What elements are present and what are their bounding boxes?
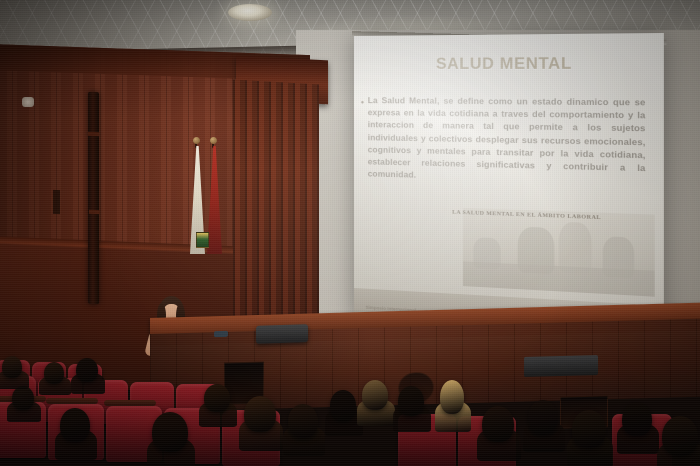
audience-member	[482, 406, 514, 442]
audience-member	[44, 362, 64, 384]
audience-member	[2, 356, 22, 378]
audience-member	[244, 396, 276, 432]
audience-member	[12, 386, 34, 410]
projection-screen: SALUD MENTAL • La Salud Mental, se defin…	[354, 33, 664, 343]
wall-fixture-icon	[22, 97, 34, 107]
slide-body-block: • La Salud Mental, se define como un est…	[368, 94, 646, 188]
wall-column-joint	[89, 210, 100, 214]
slide-title: SALUD MENTAL	[354, 55, 664, 74]
audience-member	[204, 384, 230, 412]
wall-speaker-column	[88, 92, 99, 304]
audience-member	[622, 402, 652, 436]
audience-member	[528, 400, 558, 434]
audience-member	[288, 404, 318, 438]
audience-member	[60, 408, 90, 442]
audience-member	[662, 416, 698, 456]
flag-finial-icon	[193, 137, 200, 144]
ceiling-light-icon	[228, 4, 272, 21]
auditorium-photo: SALUD MENTAL • La Salud Mental, se defin…	[0, 0, 700, 466]
flag-pair	[186, 140, 234, 260]
slide-body-text: La Salud Mental, se define como un estad…	[368, 94, 646, 188]
seat-armrest	[46, 398, 98, 404]
audience-member	[440, 380, 464, 414]
flag-finial-icon	[210, 137, 217, 144]
flag-emblem-icon	[196, 232, 209, 248]
slide-bullet-marker: •	[361, 96, 364, 108]
seat-armrest	[104, 400, 156, 406]
audience-member	[362, 380, 388, 410]
audience-member	[76, 358, 98, 382]
wall-column-joint	[88, 132, 99, 136]
audience-member	[330, 390, 356, 420]
av-small-device	[214, 331, 228, 337]
seated-audience	[0, 340, 700, 466]
flag-red	[207, 146, 222, 254]
audience-member	[398, 386, 424, 416]
audience-member	[572, 410, 606, 448]
wall-vent-icon	[53, 190, 60, 214]
audience-member	[152, 412, 188, 452]
